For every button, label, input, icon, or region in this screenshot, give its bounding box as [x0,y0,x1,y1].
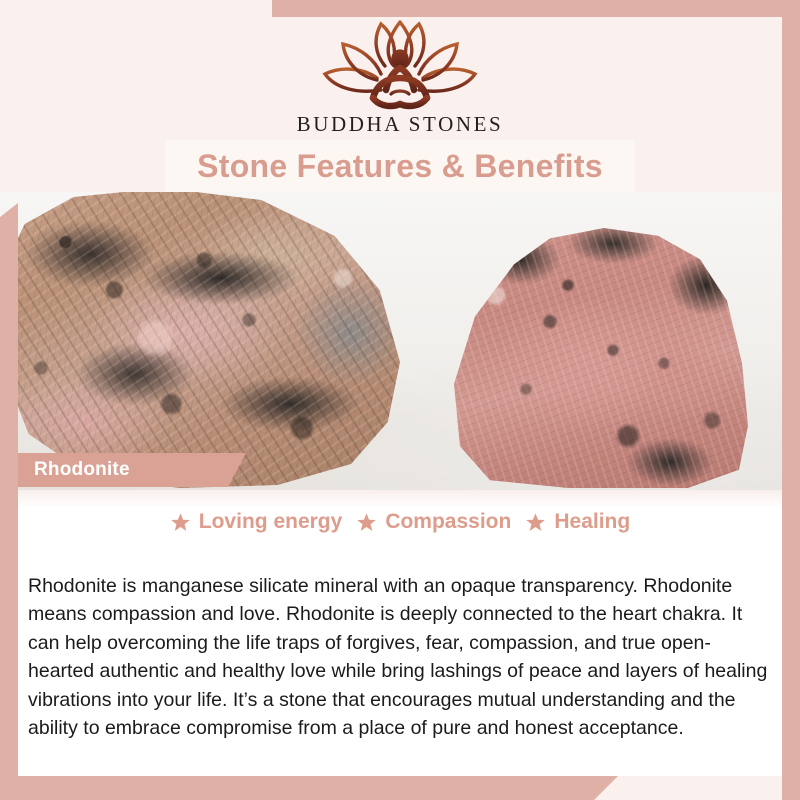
decor-band-right [782,0,800,800]
decor-band-bottom [0,776,618,800]
star-icon [170,512,191,533]
brand-name: BUDDHA STONES [297,112,504,137]
stone-name-tag: Rhodonite [18,453,246,487]
brand-logo: BUDDHA STONES [0,18,800,137]
decor-band-top-right [272,0,800,17]
benefit-label: Healing [554,510,630,534]
page-title: Stone Features & Benefits [197,148,603,185]
decor-band-left [0,203,18,800]
benefits-row: Loving energy Compassion Healing [18,510,782,534]
stone-photo [0,192,800,490]
infographic-page: BUDDHA STONES Stone Features & Benefits … [0,0,800,800]
content-top-fade [18,490,782,508]
stone-name-label: Rhodonite [34,459,130,481]
star-icon [525,512,546,533]
lotus-meditation-icon [315,18,485,110]
content-card: Loving energy Compassion Healing Rhodoni… [18,490,782,776]
star-icon [356,512,377,533]
benefit-item: Compassion [356,510,511,534]
title-banner: Stone Features & Benefits [165,140,635,192]
stone-description: Rhodonite is manganese silicate mineral … [28,572,772,743]
brand-header: BUDDHA STONES [0,0,800,143]
benefit-item: Healing [525,510,630,534]
benefit-item: Loving energy [170,510,343,534]
benefit-label: Compassion [385,510,511,534]
benefit-label: Loving energy [199,510,343,534]
